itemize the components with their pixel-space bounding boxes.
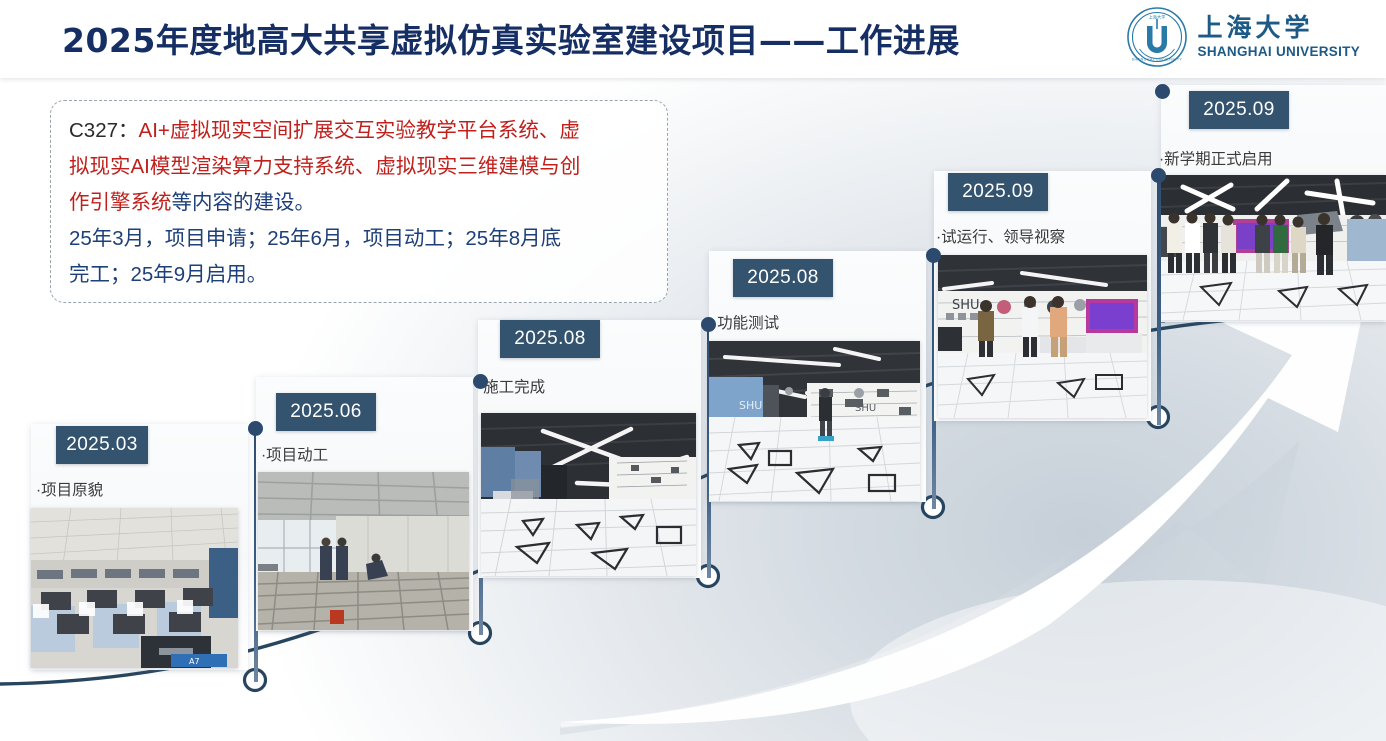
desc-seg-5a: 完工；25年9月启用。	[69, 263, 267, 286]
logo-chinese-name: 上海大学	[1198, 15, 1314, 40]
svg-text:SHANGHAI UNIVERSITY: SHANGHAI UNIVERSITY	[1131, 58, 1182, 62]
milestone-4-stem-dot	[926, 248, 941, 263]
svg-text:SHU: SHU	[855, 403, 876, 414]
milestone-card-2[interactable]: 2025.06 ·项目动工	[256, 377, 473, 631]
milestone-2-date-badge: 2025.06	[276, 393, 376, 431]
milestone-6-caption: ·新学期正式启用	[1159, 147, 1273, 169]
svg-text:SHU: SHU	[952, 298, 980, 313]
desc-seg-2a: 拟现实AI模型渲染算力支持系统、虚拟现实三维建模与创	[69, 155, 580, 178]
milestone-2-caption: ·项目动工	[261, 443, 328, 465]
milestone-2-photo[interactable]	[258, 472, 469, 630]
shanghai-university-seal-icon: 上海大学 SHANGHAI UNIVERSITY	[1126, 6, 1188, 68]
milestone-card-4[interactable]: 2025.08 ·功能测试	[709, 251, 926, 502]
project-description-box: C327：AI+虚拟现实空间扩展交互实验教学平台系统、虚 拟现实AI模型渲染算力…	[50, 100, 668, 303]
milestone-card-5[interactable]: 2025.09 ·试运行、领导视察 SHU	[934, 171, 1151, 421]
university-logo: 上海大学 SHANGHAI UNIVERSITY 上海大学 SHANGHAI U…	[1126, 6, 1360, 68]
milestone-5-stem-dot	[1151, 168, 1166, 183]
svg-text:A7: A7	[189, 657, 200, 666]
milestone-6-stem-dot	[1155, 84, 1170, 99]
milestone-card-6[interactable]: 2025.09 ·新学期正式启用	[1161, 85, 1386, 322]
desc-line-1: C327：AI+虚拟现实空间扩展交互实验教学平台系统、虚	[69, 113, 651, 149]
slide-canvas: 2025年度地高大共享虚拟仿真实验室建设项目——工作进展 上海大学 SHANGH…	[0, 0, 1386, 741]
svg-text:上海大学: 上海大学	[1148, 14, 1165, 21]
milestone-6-date-badge: 2025.09	[1189, 91, 1289, 129]
desc-seg-3a: 作引擎系统	[69, 191, 172, 214]
milestone-3-date-badge: 2025.08	[500, 320, 600, 358]
desc-seg-4a: 25年3月，项目申请；25年6月，项目动工；25年8月底	[69, 227, 561, 250]
milestone-4-caption: ·功能测试	[712, 311, 779, 333]
milestone-3-caption: ·施工完成	[478, 375, 545, 397]
milestone-5-caption: ·试运行、领导视察	[936, 225, 1065, 247]
desc-line-3: 作引擎系统等内容的建设。	[69, 185, 651, 221]
milestone-5-photo[interactable]: SHU	[938, 255, 1147, 418]
logo-english-name: SHANGHAI UNIVERSITY	[1198, 45, 1360, 59]
desc-line-4: 25年3月，项目申请；25年6月，项目动工；25年8月底	[69, 221, 651, 257]
milestone-6-photo[interactable]	[1161, 175, 1386, 320]
desc-line-5: 完工；25年9月启用。	[69, 257, 651, 293]
milestone-4-date-badge: 2025.08	[733, 259, 833, 297]
project-code: C327：	[69, 119, 139, 142]
desc-seg-3b: 等内容的建设。	[172, 191, 316, 214]
milestone-3-stem-dot	[701, 317, 716, 332]
milestone-1-stem-dot	[248, 421, 263, 436]
milestone-card-1[interactable]: 2025.03 ·项目原貌	[31, 424, 248, 670]
svg-text:SHU: SHU	[739, 399, 762, 412]
desc-seg-1b: AI+虚拟现实空间扩展交互实验教学平台系统、虚	[139, 119, 580, 142]
milestone-5-date-badge: 2025.09	[948, 173, 1048, 211]
desc-line-2: 拟现实AI模型渲染算力支持系统、虚拟现实三维建模与创	[69, 149, 651, 185]
milestone-card-3[interactable]: 2025.08 ·施工完成	[478, 320, 701, 578]
milestone-1-caption: ·项目原貌	[36, 478, 103, 500]
milestone-3-photo[interactable]	[481, 413, 696, 576]
slide-header: 2025年度地高大共享虚拟仿真实验室建设项目——工作进展 上海大学 SHANGH…	[0, 0, 1386, 78]
milestone-4-photo[interactable]: SHU SHU	[709, 341, 920, 501]
page-title: 2025年度地高大共享虚拟仿真实验室建设项目——工作进展	[62, 14, 960, 62]
milestone-2-stem-dot	[473, 374, 488, 389]
milestone-1-photo[interactable]: A7	[31, 508, 238, 668]
milestone-1-date-badge: 2025.03	[56, 426, 148, 464]
